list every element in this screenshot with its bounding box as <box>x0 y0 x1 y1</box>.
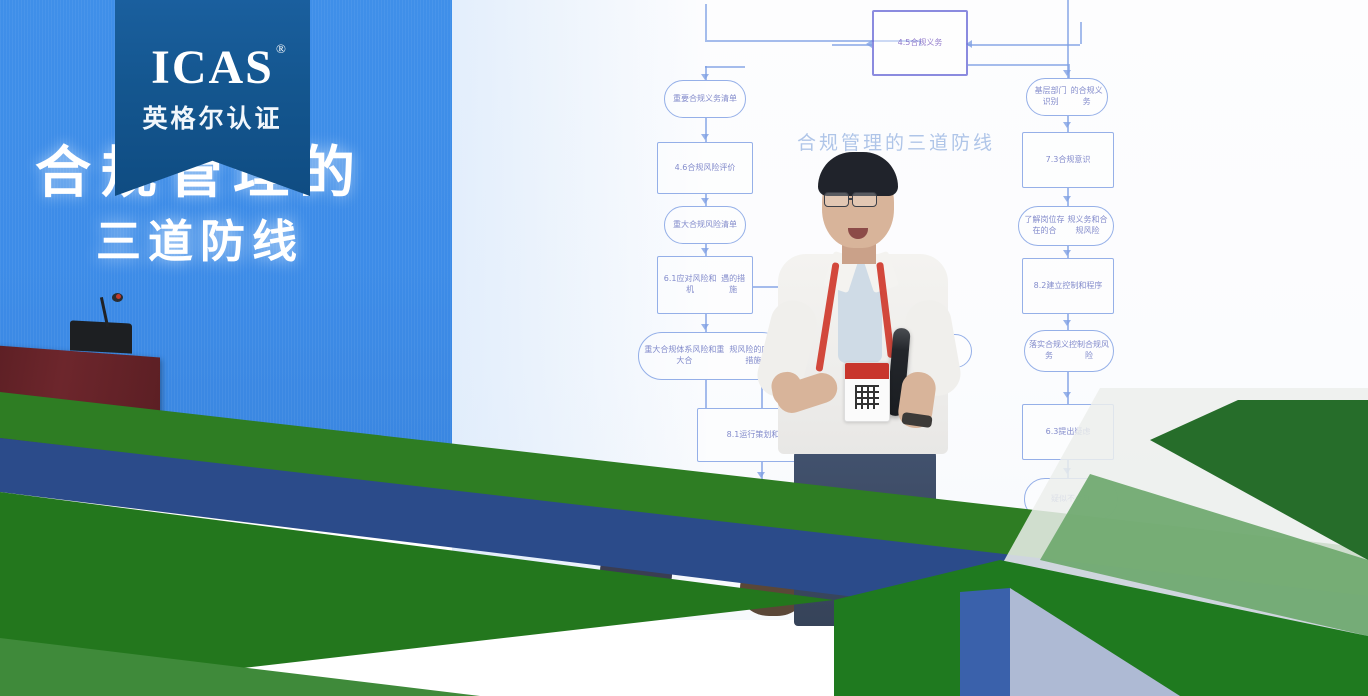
speaker-figure <box>760 150 990 620</box>
glasses-icon <box>824 192 849 207</box>
deco-band-green-soft <box>0 638 480 696</box>
screenshot-stage: 合规管理的 三道防线 <box>0 0 1368 696</box>
flow-node: 基层部门识别的合规义务 <box>1026 78 1108 116</box>
qr-code-icon <box>855 385 879 409</box>
flow-node: 疑似不合规 <box>1024 478 1118 520</box>
audience-member <box>1000 548 1062 602</box>
podium-top <box>70 320 132 353</box>
badge-header <box>845 363 889 379</box>
speaker-pants-gap <box>860 500 870 628</box>
flow-node: 4.5合规义务 <box>872 10 968 76</box>
icas-wordmark-text: ICAS <box>151 41 274 94</box>
podium-mic-indicator <box>116 294 121 299</box>
flow-node: 4.6合规风险评价 <box>657 142 753 194</box>
flow-node: 重要合规义务落实和合规风险得到控制 <box>642 482 776 524</box>
flow-node: 6.3提出疑虑 <box>1022 404 1114 460</box>
audience-member <box>1040 600 1120 666</box>
glasses-bridge <box>849 198 853 200</box>
glasses-icon <box>852 192 877 207</box>
icas-chinese-name: 英格尔认证 <box>115 99 310 135</box>
registered-mark-icon: ® <box>276 42 288 55</box>
speaker-badge <box>844 362 890 422</box>
audience-member <box>600 540 672 602</box>
flow-node: 重要合规义务清单 <box>664 80 746 118</box>
flow-node: 7.3合规意识 <box>1022 132 1114 188</box>
flow-node: 重大合规风险清单 <box>664 206 746 244</box>
icas-wordmark: ICAS ® <box>151 44 274 92</box>
flow-node: 6.1应对风险和机遇的措施 <box>657 256 753 314</box>
speaker-hair <box>818 152 898 196</box>
flow-node: 8.2建立控制和程序 <box>1022 258 1114 314</box>
flow-node: 了解岗位存在的合规义务和合规风险 <box>1018 206 1114 246</box>
flow-node: 落实合规义务控制合规风险 <box>1024 330 1114 372</box>
led-headline-line2: 三道防线 <box>0 205 400 270</box>
podium <box>0 345 160 477</box>
